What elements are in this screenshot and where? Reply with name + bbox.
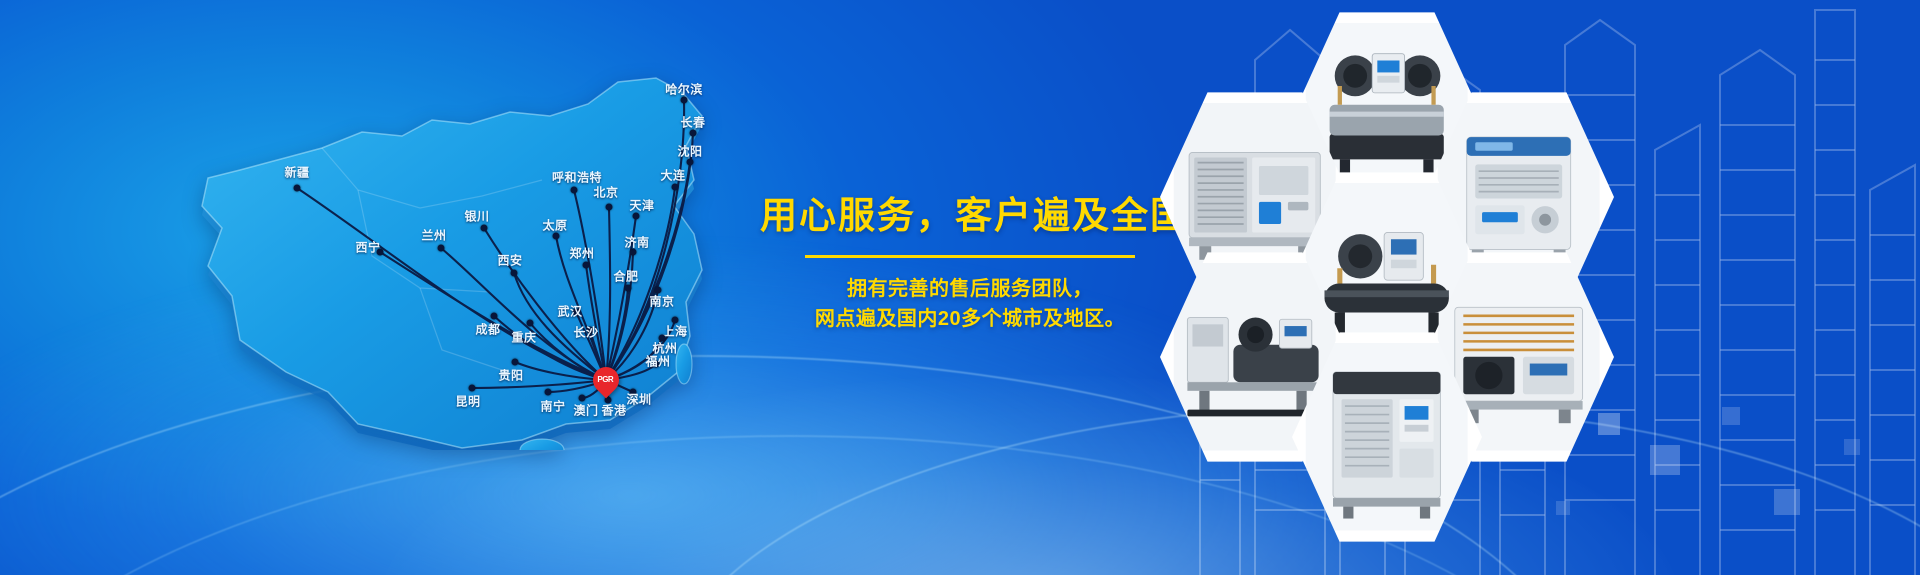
city-label: 北京 xyxy=(593,184,618,201)
city-label: 澳门 xyxy=(573,402,598,419)
banner-copy: 用心服务，客户遍及全国 拥有完善的售后服务团队， 网点遍及国内20多个城市及地区… xyxy=(760,196,1180,334)
city-label: 南宁 xyxy=(540,398,565,415)
city-label: 合肥 xyxy=(613,268,638,285)
city-dot[interactable] xyxy=(491,313,498,320)
city-label: 济南 xyxy=(624,234,649,251)
city-dot[interactable] xyxy=(527,320,534,327)
city-dot[interactable] xyxy=(579,395,586,402)
subtext-line-2: 网点遍及国内20多个城市及地区。 xyxy=(760,304,1180,334)
city-label: 南京 xyxy=(649,293,674,310)
divider xyxy=(805,255,1135,258)
map-pin-icon: PGR xyxy=(588,362,625,399)
china-map: 新疆西宁兰州银川呼和浩特北京天津大连沈阳长春哈尔滨太原西安郑州济南合肥南京上海杭… xyxy=(90,20,710,450)
city-dot[interactable] xyxy=(633,213,640,220)
hub-marker-guangzhou[interactable]: PGR xyxy=(593,367,619,393)
city-dot[interactable] xyxy=(545,389,552,396)
city-label: 西安 xyxy=(497,252,522,269)
product-hex-grid xyxy=(1160,0,1760,575)
promo-banner: 新疆西宁兰州银川呼和浩特北京天津大连沈阳长春哈尔滨太原西安郑州济南合肥南京上海杭… xyxy=(0,0,1920,575)
city-dot[interactable] xyxy=(672,184,679,191)
city-dot[interactable] xyxy=(583,262,590,269)
city-label: 大连 xyxy=(660,167,685,184)
city-dot[interactable] xyxy=(681,97,688,104)
city-label: 沈阳 xyxy=(677,143,702,160)
city-dot[interactable] xyxy=(553,233,560,240)
city-label: 长春 xyxy=(680,114,705,131)
city-label: 上海 xyxy=(662,323,687,340)
city-label: 西宁 xyxy=(355,239,380,256)
city-dot[interactable] xyxy=(438,245,445,252)
city-label: 新疆 xyxy=(284,164,309,181)
city-label: 福州 xyxy=(645,353,670,370)
city-dot[interactable] xyxy=(606,204,613,211)
city-dot[interactable] xyxy=(625,285,632,292)
city-label: 太原 xyxy=(542,217,567,234)
city-dot[interactable] xyxy=(687,159,694,166)
hub-label: PGR xyxy=(598,375,614,384)
headline: 用心服务，客户遍及全国 xyxy=(760,196,1180,237)
city-label: 哈尔滨 xyxy=(665,81,703,98)
city-label: 贵阳 xyxy=(498,367,523,384)
cabinet-water-chiller-image xyxy=(1305,343,1468,530)
city-dot[interactable] xyxy=(571,187,578,194)
city-label: 深圳 xyxy=(626,391,651,408)
city-label: 长沙 xyxy=(573,324,598,341)
subtext-line-1: 拥有完善的售后服务团队， xyxy=(760,274,1180,304)
city-label: 重庆 xyxy=(511,329,536,346)
city-label: 成都 xyxy=(475,321,500,338)
city-dot[interactable] xyxy=(690,130,697,137)
city-label: 兰州 xyxy=(421,227,446,244)
city-label: 香港 xyxy=(601,402,626,419)
city-dot[interactable] xyxy=(469,385,476,392)
city-label: 天津 xyxy=(629,197,654,214)
city-label: 昆明 xyxy=(455,393,480,410)
city-dot[interactable] xyxy=(511,270,518,277)
city-label: 郑州 xyxy=(569,245,594,262)
city-dot[interactable] xyxy=(481,225,488,232)
city-label: 银川 xyxy=(464,208,489,225)
city-dot[interactable] xyxy=(512,359,519,366)
city-label: 武汉 xyxy=(557,303,582,320)
city-dot[interactable] xyxy=(294,185,301,192)
